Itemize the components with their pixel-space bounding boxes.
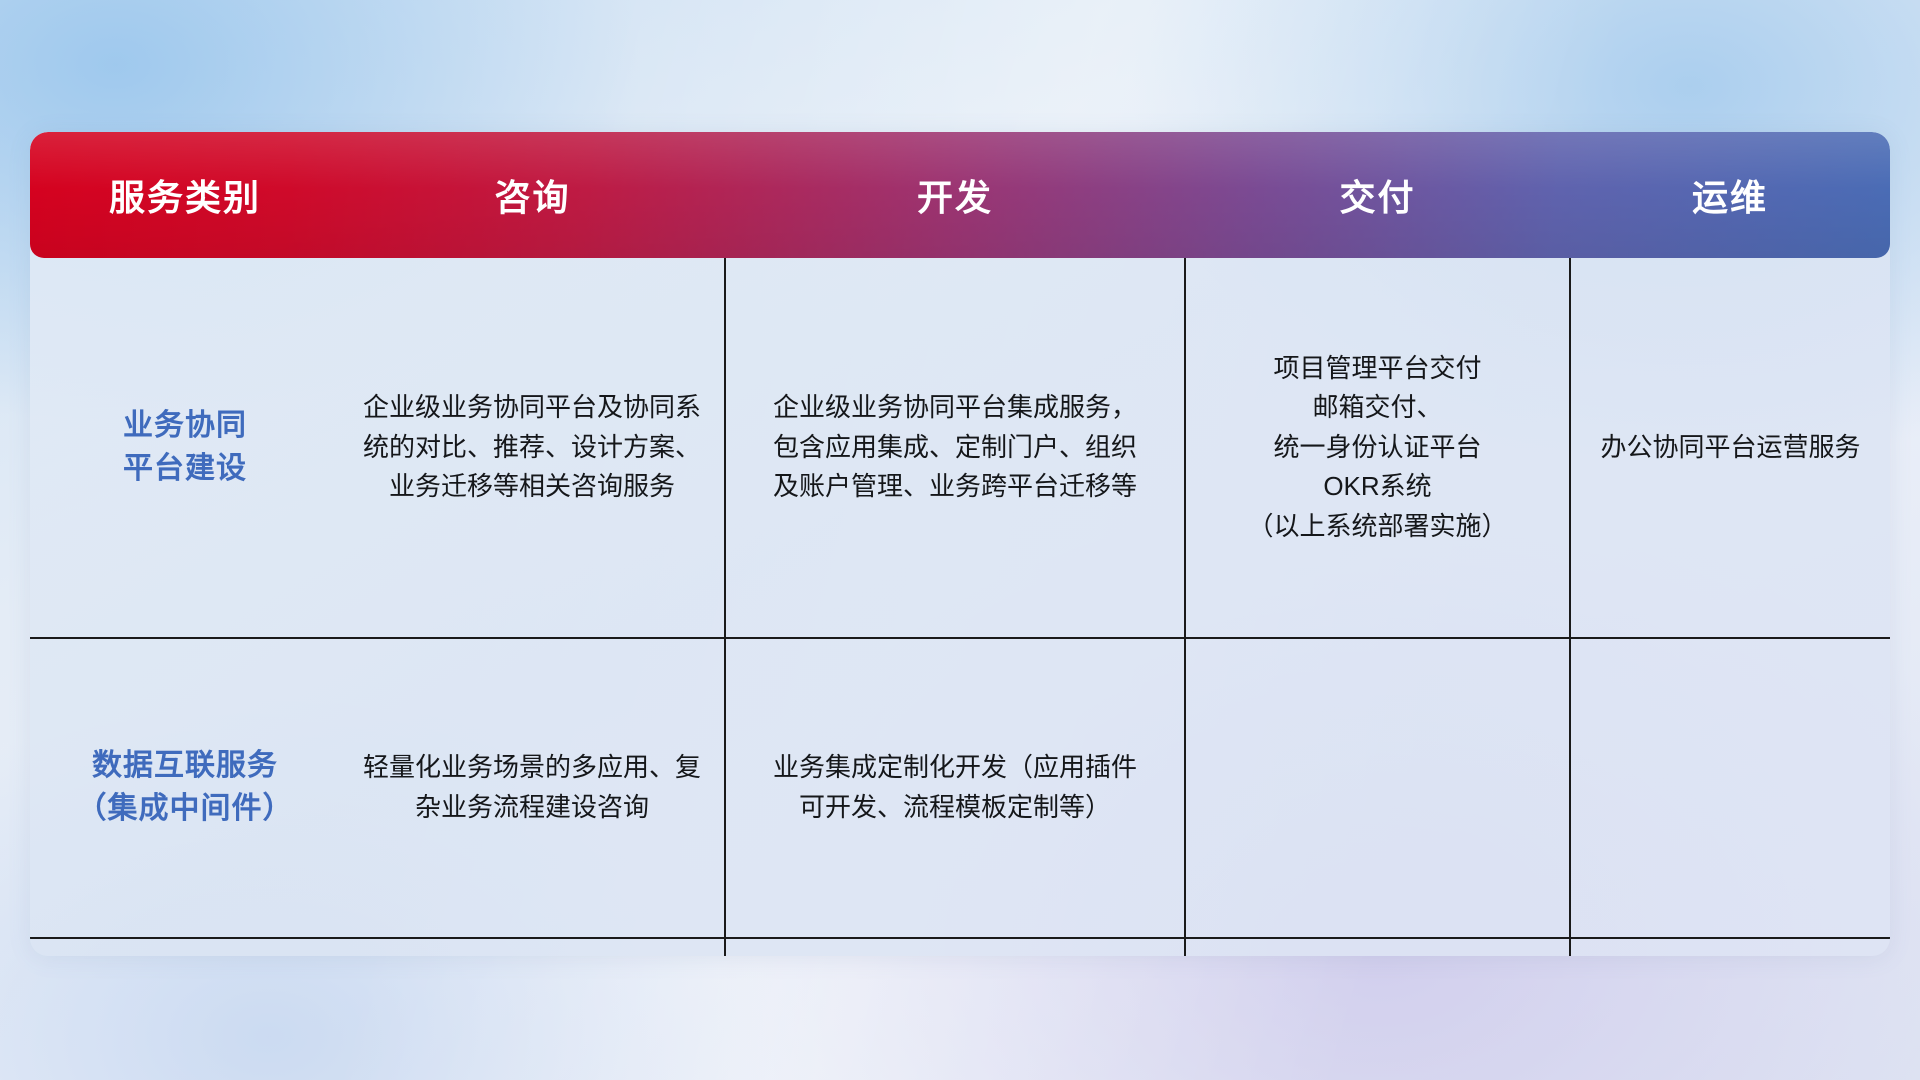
cell-development: 业务集成定制化开发（应用插件 可开发、流程模板定制等）	[725, 638, 1185, 938]
column-header-operations: 运维	[1570, 132, 1890, 258]
table-body: 业务协同 平台建设 企业级业务协同平台及协同系 统的对比、推荐、设计方案、 业务…	[30, 258, 1890, 956]
table-row: 应用定制 低代码平台推荐及咨询 基于低代码开发平台的微应用定 制开发； 基于通过…	[30, 938, 1890, 956]
service-matrix-card: 服务类别 咨询 开发 交付 运维 业务协同 平台建设 企业级业务协同平台及协同系…	[30, 132, 1890, 956]
cell-development: 基于低代码开发平台的微应用定 制开发； 基于通过语言的微应用定制开发	[725, 938, 1185, 956]
row1-consulting-text: 企业级业务协同平台及协同系 统的对比、推荐、设计方案、 业务迁移等相关咨询服务	[354, 388, 710, 507]
column-header-category: 服务类别	[30, 132, 340, 258]
row-category-label: 数据互联服务 （集成中间件）	[30, 638, 340, 938]
row-category-label: 应用定制	[30, 938, 340, 956]
cell-delivery: 应用分发及管理	[1185, 938, 1570, 956]
table-row: 业务协同 平台建设 企业级业务协同平台及协同系 统的对比、推荐、设计方案、 业务…	[30, 258, 1890, 638]
table-header-row: 服务类别 咨询 开发 交付 运维	[30, 132, 1890, 258]
row1-development-text: 企业级业务协同平台集成服务， 包含应用集成、定制门户、组织 及账户管理、业务跨平…	[740, 388, 1170, 507]
column-header-delivery: 交付	[1185, 132, 1570, 258]
row2-consulting-text: 轻量化业务场景的多应用、复 杂业务流程建设咨询	[354, 748, 710, 827]
cell-operations: 办公协同平台运营服务	[1570, 258, 1890, 638]
row2-development-text: 业务集成定制化开发（应用插件 可开发、流程模板定制等）	[740, 748, 1170, 827]
row1-delivery-text: 项目管理平台交付 邮箱交付、 统一身份认证平台 OKR系统 （以上系统部署实施）	[1200, 349, 1555, 547]
service-matrix-table: 服务类别 咨询 开发 交付 运维 业务协同 平台建设 企业级业务协同平台及协同系…	[30, 132, 1890, 956]
column-header-development: 开发	[725, 132, 1185, 258]
cell-delivery: 项目管理平台交付 邮箱交付、 统一身份认证平台 OKR系统 （以上系统部署实施）	[1185, 258, 1570, 638]
row1-category-text: 业务协同 平台建设	[44, 405, 326, 490]
row1-operations-text: 办公协同平台运营服务	[1585, 428, 1876, 468]
column-header-consulting: 咨询	[340, 132, 725, 258]
table-row: 数据互联服务 （集成中间件） 轻量化业务场景的多应用、复 杂业务流程建设咨询 业…	[30, 638, 1890, 938]
cell-development: 企业级业务协同平台集成服务， 包含应用集成、定制门户、组织 及账户管理、业务跨平…	[725, 258, 1185, 638]
cell-consulting: 轻量化业务场景的多应用、复 杂业务流程建设咨询	[340, 638, 725, 938]
row-category-label: 业务协同 平台建设	[30, 258, 340, 638]
table-head: 服务类别 咨询 开发 交付 运维	[30, 132, 1890, 258]
cell-consulting: 企业级业务协同平台及协同系 统的对比、推荐、设计方案、 业务迁移等相关咨询服务	[340, 258, 725, 638]
cell-operations	[1570, 638, 1890, 938]
cell-operations	[1570, 938, 1890, 956]
row2-category-text: 数据互联服务 （集成中间件）	[44, 745, 326, 830]
cell-consulting: 低代码平台推荐及咨询	[340, 938, 725, 956]
cell-delivery	[1185, 638, 1570, 938]
